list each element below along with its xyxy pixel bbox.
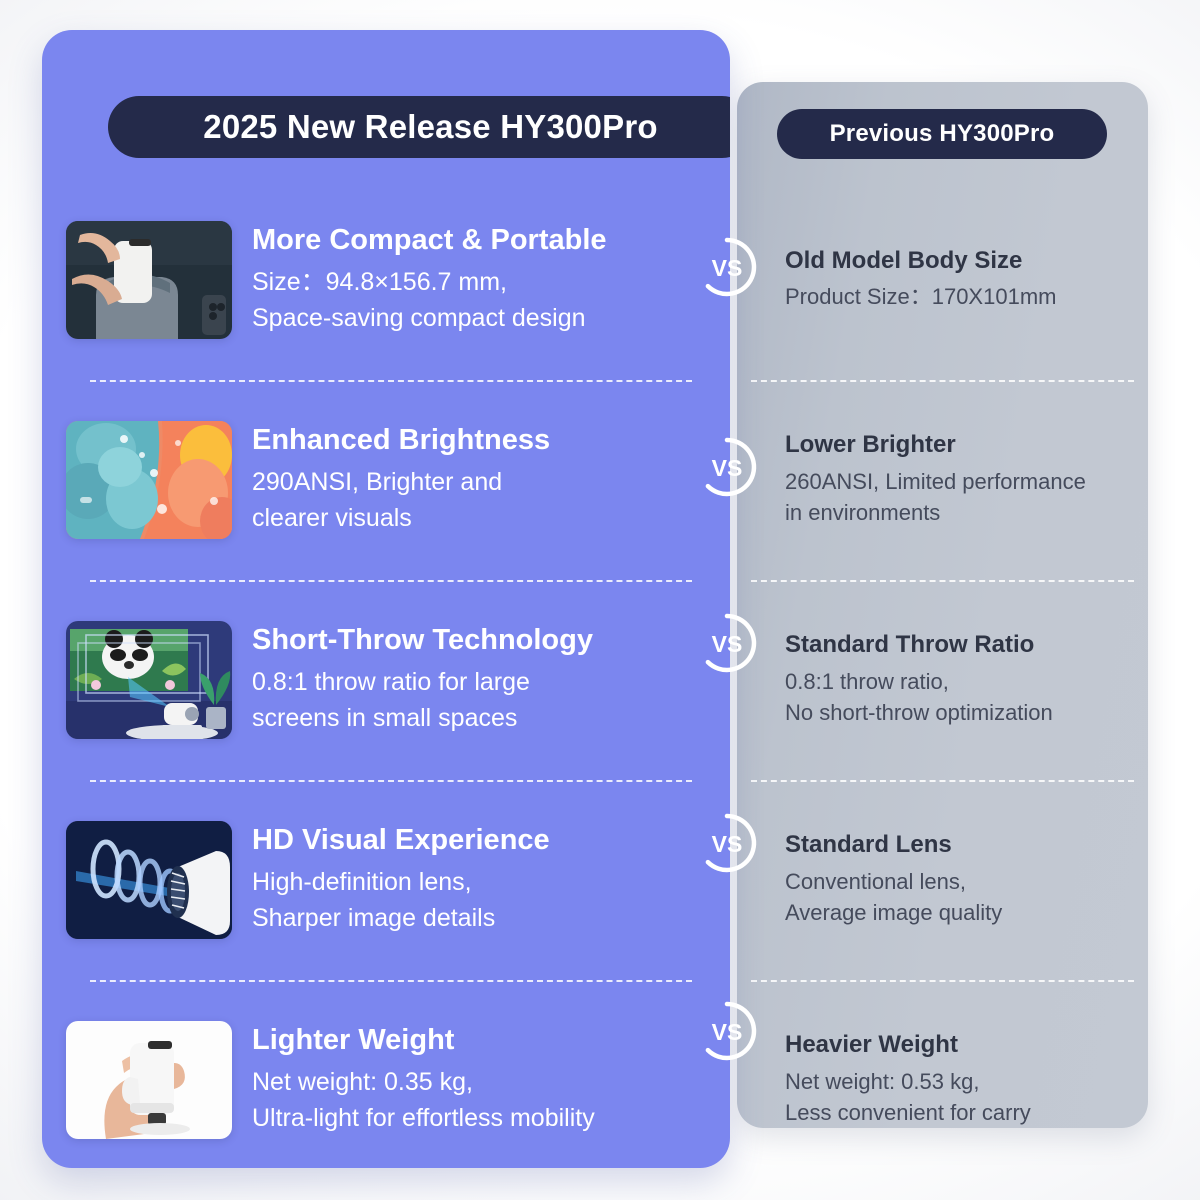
new-release-title-text: 2025 New Release HY300Pro <box>203 108 657 146</box>
row-title: Lighter Weight <box>252 1024 595 1057</box>
new-release-row-compact: More Compact & Portable Size：94.8×156.7 … <box>42 180 730 380</box>
new-release-row-text: Lighter Weight Net weight: 0.35 kg, Ultr… <box>252 1024 595 1137</box>
previous-model-row-brightness: Lower Brighter 260ANSI, Limited performa… <box>737 380 1148 580</box>
previous-model-row-lens: Standard Lens Conventional lens, Average… <box>737 780 1148 980</box>
vs-badge-row-2: VS <box>696 436 758 498</box>
previous-model-row-text: Standard Lens Conventional lens, Average… <box>785 831 1134 930</box>
previous-model-row-throw-ratio: Standard Throw Ratio 0.8:1 throw ratio, … <box>737 580 1148 780</box>
row-line: No short-throw optimization <box>785 697 1134 729</box>
new-release-row-text: Short-Throw Technology 0.8:1 throw ratio… <box>252 624 593 737</box>
new-release-panel: 2025 New Release HY300Pro <box>42 30 730 1168</box>
row-line: Net weight: 0.53 kg, <box>785 1066 1134 1098</box>
row-title: Standard Lens <box>785 831 1134 860</box>
previous-model-row-text: Old Model Body Size Product Size：170X101… <box>785 247 1134 314</box>
new-release-row-text: Enhanced Brightness 290ANSI, Brighter an… <box>252 424 550 537</box>
hand-holding-projector-photo <box>66 1021 232 1139</box>
vs-badge-row-5: VS <box>696 1000 758 1062</box>
row-line: High-definition lens, <box>252 864 550 900</box>
previous-model-row-text: Heavier Weight Net weight: 0.53 kg, Less… <box>785 1031 1134 1128</box>
new-release-row-list: More Compact & Portable Size：94.8×156.7 … <box>42 180 730 1168</box>
row-line: Conventional lens, <box>785 866 1134 898</box>
new-release-title-pill: 2025 New Release HY300Pro <box>108 96 730 158</box>
row-line: 0.8:1 throw ratio for large <box>252 664 593 700</box>
vs-badge-label: VS <box>712 455 743 481</box>
row-line: in environments <box>785 497 1134 529</box>
row-title: More Compact & Portable <box>252 224 607 257</box>
previous-model-panel: Previous HY300Pro Old Model Body Size Pr… <box>737 82 1148 1128</box>
row-line: Less convenient for carry <box>785 1097 1134 1128</box>
new-release-row-text: HD Visual Experience High-definition len… <box>252 824 550 937</box>
row-title: Old Model Body Size <box>785 247 1134 276</box>
glossy-flowers-color-photo <box>66 421 232 539</box>
previous-model-row-text: Lower Brighter 260ANSI, Limited performa… <box>785 431 1134 530</box>
vs-badge-label: VS <box>712 631 743 657</box>
vs-badge-label: VS <box>712 831 743 857</box>
projector-in-backpack-photo <box>66 221 232 339</box>
vs-badge-label: VS <box>712 255 743 281</box>
vs-badge-row-3: VS <box>696 612 758 674</box>
previous-model-row-body-size: Old Model Body Size Product Size：170X101… <box>737 180 1148 380</box>
row-line: Size：94.8×156.7 mm, <box>252 264 607 300</box>
new-release-row-text: More Compact & Portable Size：94.8×156.7 … <box>252 224 607 337</box>
new-release-row-hd-lens: HD Visual Experience High-definition len… <box>42 780 730 980</box>
row-title: Heavier Weight <box>785 1031 1134 1060</box>
new-release-row-short-throw: Short-Throw Technology 0.8:1 throw ratio… <box>42 580 730 780</box>
previous-model-row-weight: Heavier Weight Net weight: 0.53 kg, Less… <box>737 980 1148 1128</box>
vs-badge-label: VS <box>712 1019 743 1045</box>
row-line: 0.8:1 throw ratio, <box>785 666 1134 698</box>
row-line: Sharper image details <box>252 900 550 936</box>
row-line: Space-saving compact design <box>252 300 607 336</box>
previous-model-row-list: Old Model Body Size Product Size：170X101… <box>737 180 1148 1128</box>
row-line: Net weight: 0.35 kg, <box>252 1064 595 1100</box>
row-line: Average image quality <box>785 897 1134 929</box>
row-line: Ultra-light for effortless mobility <box>252 1100 595 1136</box>
row-title: HD Visual Experience <box>252 824 550 857</box>
row-line: screens in small spaces <box>252 700 593 736</box>
new-release-row-brightness: Enhanced Brightness 290ANSI, Brighter an… <box>42 380 730 580</box>
row-title: Enhanced Brightness <box>252 424 550 457</box>
row-line: 260ANSI, Limited performance <box>785 466 1134 498</box>
row-line: Product Size：170X101mm <box>785 281 1134 313</box>
new-release-row-weight: Lighter Weight Net weight: 0.35 kg, Ultr… <box>42 980 730 1168</box>
vs-badge-row-4: VS <box>696 812 758 874</box>
previous-model-title-pill: Previous HY300Pro <box>777 109 1107 159</box>
row-line: clearer visuals <box>252 500 550 536</box>
vs-badge-row-1: VS <box>696 236 758 298</box>
row-line: 290ANSI, Brighter and <box>252 464 550 500</box>
previous-model-row-text: Standard Throw Ratio 0.8:1 throw ratio, … <box>785 631 1134 730</box>
previous-model-title-text: Previous HY300Pro <box>830 120 1055 148</box>
row-title: Lower Brighter <box>785 431 1134 460</box>
row-title: Standard Throw Ratio <box>785 631 1134 660</box>
row-title: Short-Throw Technology <box>252 624 593 657</box>
projector-panda-projection-photo <box>66 621 232 739</box>
lens-exploded-view-photo <box>66 821 232 939</box>
